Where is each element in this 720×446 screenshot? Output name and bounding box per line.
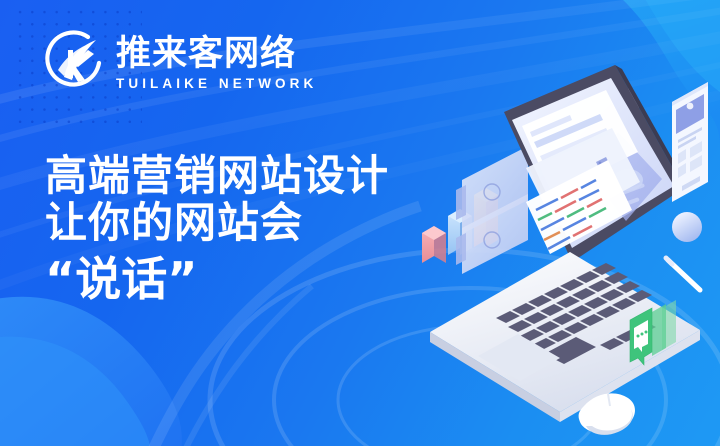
headline-line-1: 高端营销网站设计 <box>45 152 389 199</box>
sphere-small-icon <box>672 212 702 242</box>
brand-logo: 推来客网络 TUILAIKE NETWORK <box>44 30 317 92</box>
headline-line-2: 让你的网站会 <box>45 199 389 246</box>
bottom-left-wave <box>0 297 182 446</box>
stylus-icon <box>666 258 700 290</box>
brand-name-en: TUILAIKE NETWORK <box>116 76 317 92</box>
brand-name-cn: 推来客网络 <box>116 34 317 74</box>
floating-cards <box>456 146 528 274</box>
isometric-laptop-workspace-illustration <box>400 40 720 446</box>
smartphone-icon <box>666 70 708 202</box>
tuilaike-circle-k-emblem-icon <box>44 30 106 92</box>
headline-line-3: “说话” <box>45 250 389 308</box>
headline-block: 高端营销网站设计 让你的网站会 “说话” <box>45 152 389 308</box>
marketing-banner: 推来客网络 TUILAIKE NETWORK 高端营销网站设计 让你的网站会 “… <box>0 0 720 446</box>
